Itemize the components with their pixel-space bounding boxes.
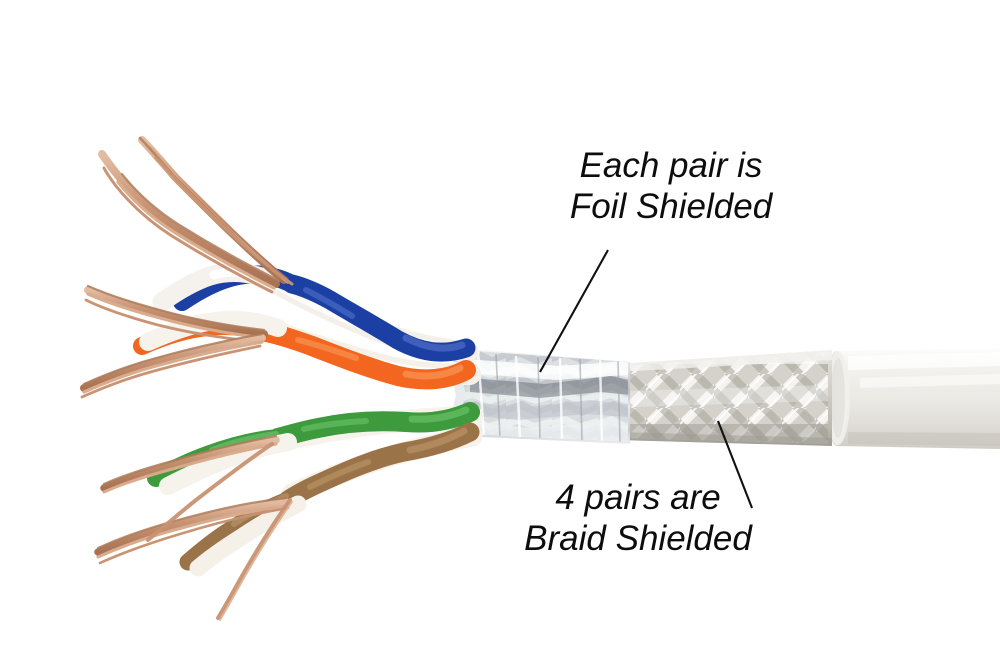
callout-braid-line2: Braid Shielded	[468, 519, 808, 560]
callout-braid-shield: 4 pairs are Braid Shielded	[468, 478, 808, 559]
callout-foil-line1: Each pair is	[580, 146, 763, 185]
cable-outer-jacket	[826, 348, 1000, 449]
callout-foil-line2: Foil Shielded	[516, 187, 826, 228]
callout-braid-line1: 4 pairs are	[555, 478, 720, 517]
callout-foil-shield: Each pair is Foil Shielded	[516, 146, 826, 227]
image-canvas: Double Shield Noise Protection	[0, 0, 1000, 650]
